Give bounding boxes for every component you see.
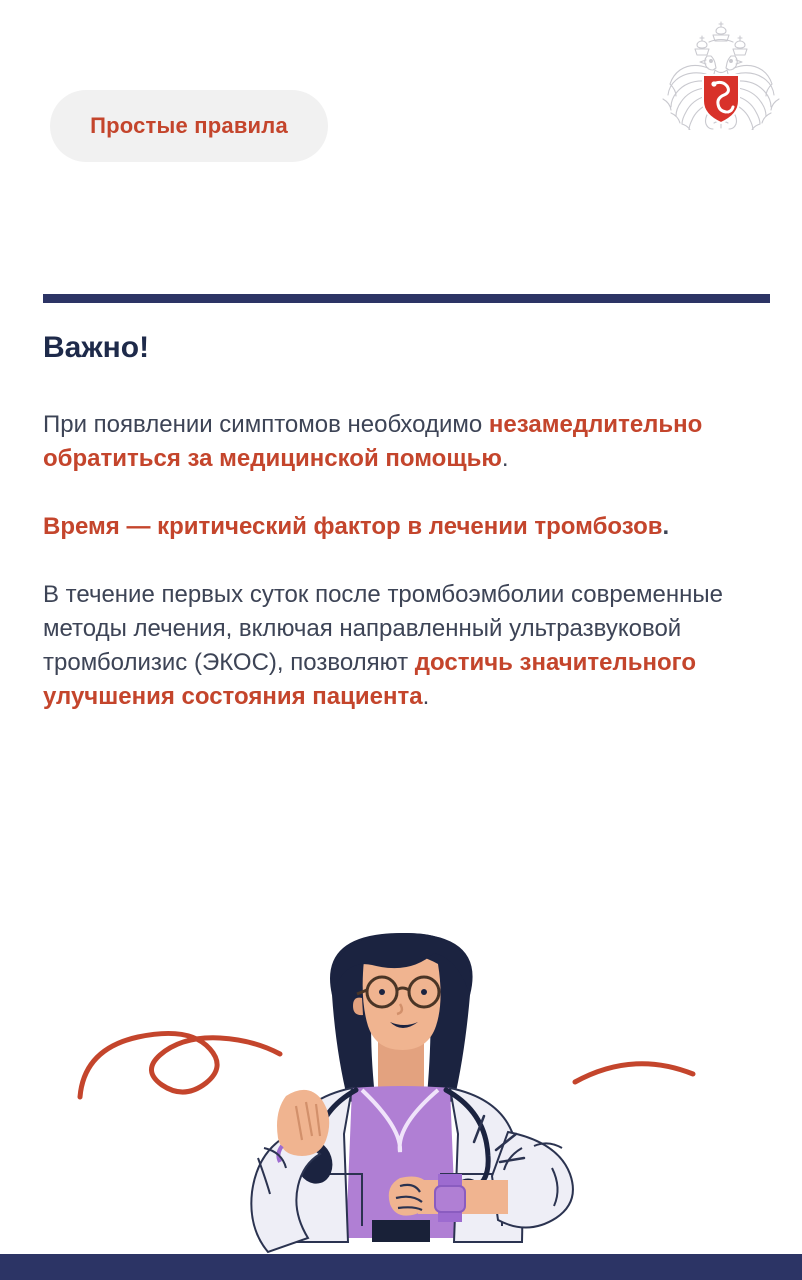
badge-label: Простые правила [90,113,288,139]
doctor-figure [251,933,573,1252]
content-block: Важно! При появлении симптомов необходим… [43,330,773,715]
paragraph-treatment-window-tail: . [423,683,430,710]
section-divider-rule [43,294,770,303]
paragraph-symptoms-lead: При появлении симптомов необходимо [43,411,489,438]
trouser-band [372,1220,430,1242]
red-squiggle-right [575,1064,693,1082]
eye-left [379,989,385,995]
red-squiggle-left [80,1033,280,1097]
paragraph-treatment-window: В течение первых суток после тромбоэмбол… [43,578,773,714]
eye-right [421,989,427,995]
page-title: Важно! [43,330,773,366]
ministry-of-health-emblem-icon [662,18,780,130]
infographic-page: Простые правила [0,0,802,1280]
wristwatch-face [435,1186,465,1212]
doctor-checking-wristwatch-illustration [0,900,802,1265]
paragraph-time-critical: Время — критический фактор в лечении тро… [43,510,773,544]
page-header: Простые правила [0,0,802,200]
paragraph-time-critical-tail: . [663,513,670,540]
paragraph-symptoms: При появлении симптомов необходимо незам… [43,408,773,476]
paragraph-symptoms-tail: . [502,445,509,472]
badge-simple-rules[interactable]: Простые правила [50,90,328,162]
footer-bar [0,1254,802,1280]
hand-left [277,1090,329,1156]
paragraph-time-critical-highlight: Время — критический фактор в лечении тро… [43,513,663,540]
